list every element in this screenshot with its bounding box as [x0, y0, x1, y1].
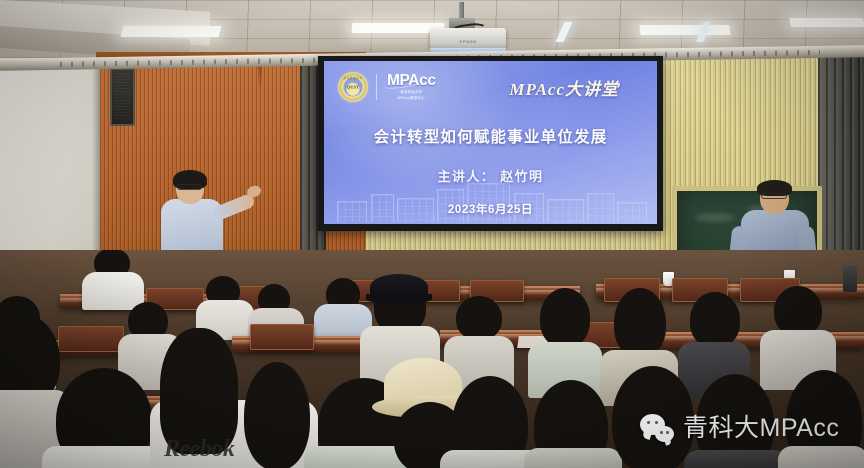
qust-seal-icon: 青岛科技大学	[338, 72, 368, 102]
projection-screen: 青岛科技大学 MPAcc 青岛科技大学 MPAcc教育中心 MPAcc大讲堂 会…	[318, 56, 663, 231]
watermark-text: 青科大MPAcc	[683, 416, 839, 441]
ceiling-light-panel	[789, 18, 864, 27]
thermos	[843, 266, 857, 292]
loudspeaker-icon	[110, 68, 135, 126]
chair-back	[58, 326, 124, 352]
projector-brand-label: EPSON	[430, 39, 506, 44]
mpacc-wordmark-text: MPAcc	[387, 73, 436, 89]
logo-divider	[376, 74, 377, 100]
wechat-icon	[640, 414, 674, 442]
black-cap-brim	[366, 294, 432, 304]
mpacc-sub-line1: 青岛科技大学	[387, 90, 436, 95]
wall-mark	[258, 64, 262, 90]
mpacc-sub-line2: MPAcc教育中心	[387, 96, 436, 101]
presentation-slide: 青岛科技大学 MPAcc 青岛科技大学 MPAcc教育中心 MPAcc大讲堂 会…	[324, 61, 657, 224]
slide-logo-bar: 青岛科技大学 MPAcc 青岛科技大学 MPAcc教育中心 MPAcc大讲堂	[338, 70, 645, 104]
eyeglasses-icon	[761, 193, 787, 199]
projector: EPSON	[430, 28, 506, 50]
wechat-bubble-small	[655, 426, 674, 442]
slide-brand-title: MPAcc大讲堂	[509, 75, 619, 100]
slide-date-line: 2023年6月25日	[324, 201, 657, 217]
ceiling-light-panel	[120, 26, 221, 37]
qust-seal-ring-text: 青岛科技大学	[339, 76, 367, 80]
mpacc-wordmark: MPAcc 青岛科技大学 MPAcc教育中心	[385, 73, 438, 100]
jacket-brand-text: Reebok	[164, 436, 234, 463]
chair-back	[250, 324, 314, 350]
eyeglasses-icon	[177, 184, 202, 190]
ceiling-light-panel	[639, 25, 730, 35]
chalk-smudge	[695, 213, 735, 222]
lecture-hall-photo: EPSON	[0, 0, 864, 468]
wechat-watermark: 青科大MPAcc	[640, 414, 839, 442]
slide-title: 会计转型如何赋能事业单位发展	[324, 125, 657, 147]
slide-speaker-line: 主讲人： 赵竹明	[324, 166, 657, 185]
